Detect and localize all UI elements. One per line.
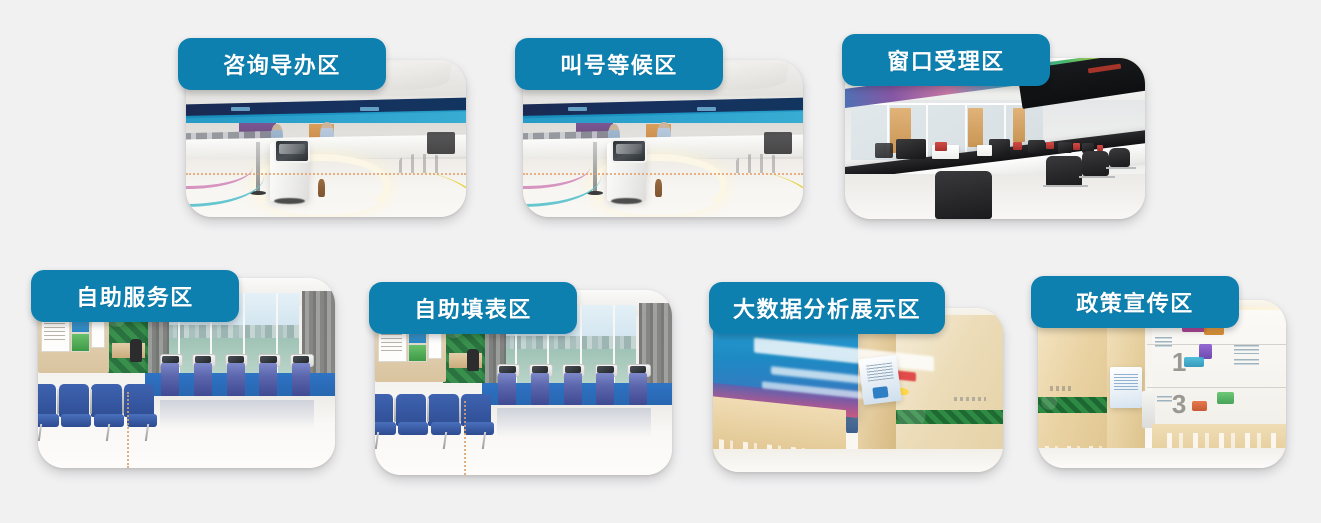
sign-led [231, 107, 251, 111]
visitor-chair [1046, 156, 1082, 187]
form-filling-kiosk [529, 364, 550, 405]
floor-reflection [497, 408, 651, 438]
desk-chair [130, 339, 142, 362]
zone-label-badge-6[interactable]: 大数据分析展示区 [709, 282, 945, 334]
zone-label-badge-1[interactable]: 咨询导办区 [178, 38, 386, 90]
seat-leg [145, 424, 149, 441]
policy-illustration [1184, 357, 1204, 367]
sign-led [568, 107, 588, 111]
kiosk-body [227, 363, 245, 396]
kiosk-body [292, 363, 310, 396]
seat-leg [443, 432, 447, 449]
kiosk-screen [162, 356, 178, 363]
window-mullion [965, 103, 967, 158]
left-wood-wall [1038, 310, 1107, 458]
waiting-seat [375, 394, 393, 426]
seat-armrest [90, 389, 92, 414]
seat-cushion [127, 414, 157, 427]
seat-leg [106, 424, 110, 441]
kiosk-screen [630, 366, 646, 373]
desk-documents [977, 145, 992, 156]
waiting-seat [396, 394, 426, 426]
guidance-kiosk-screen [274, 139, 310, 163]
floor [845, 174, 1145, 219]
kiosk-screen [499, 366, 515, 373]
wall-text-block [1234, 359, 1259, 366]
zones-board: 咨询导办区 [0, 0, 1321, 523]
form-filling-kiosk [562, 364, 583, 405]
green-plant-band [1038, 397, 1107, 412]
notice-poster [408, 344, 428, 363]
red-folder [935, 142, 947, 152]
chair-leg [1043, 185, 1088, 187]
kiosk-screen [195, 356, 211, 363]
wall-text-block [1155, 337, 1172, 349]
policy-step-number: 3 [1172, 389, 1186, 420]
zone-card-5[interactable]: 自助填表区 [375, 290, 672, 475]
kiosk-screen [260, 356, 276, 363]
policy-illustration [1217, 392, 1234, 404]
wall-text-block [1157, 396, 1172, 404]
zone-card-1[interactable]: 咨询导办区 [186, 60, 466, 217]
seat-armrest [427, 398, 429, 422]
floor-dotted-line [523, 173, 803, 175]
zone-label-badge-4[interactable]: 自助服务区 [31, 270, 239, 322]
zone-label-badge-7[interactable]: 政策宣传区 [1031, 276, 1239, 328]
sign-led [360, 107, 380, 111]
wall-divider-line [1147, 387, 1286, 388]
seat-armrest [394, 398, 396, 422]
self-service-kiosk [225, 354, 246, 396]
office-chair [935, 171, 992, 219]
waiting-seat-row [375, 394, 494, 450]
guide-dog [655, 179, 662, 196]
counter-monitor [989, 139, 1010, 155]
waiting-seat [38, 384, 56, 417]
zone-label-badge-2[interactable]: 叫号等候区 [515, 38, 723, 90]
waiting-seat [59, 384, 89, 417]
counter-monitor [1058, 142, 1072, 153]
form-filling-kiosk [497, 364, 518, 405]
counter-monitor [1028, 140, 1045, 153]
visitor-chair [1109, 148, 1130, 167]
floor-reflection [160, 400, 314, 430]
form-filling-kiosk [627, 364, 648, 405]
zone-label-badge-3[interactable]: 窗口受理区 [842, 34, 1050, 86]
visitor-chair [1082, 151, 1109, 175]
self-service-kiosk [160, 354, 181, 396]
wall-text-block [1234, 345, 1259, 353]
wood-door [968, 108, 983, 147]
seat-leg [375, 432, 379, 449]
kiosk-body [629, 373, 647, 405]
seat-leg [482, 432, 486, 449]
red-folder [1097, 145, 1103, 151]
red-folder [1013, 142, 1022, 150]
seat-armrest [459, 398, 461, 422]
seat-armrest [57, 389, 59, 414]
floor [713, 449, 1003, 472]
seat-cushion [61, 414, 91, 427]
zone-card-3[interactable]: 窗口受理区 [845, 58, 1145, 219]
zone-card-6[interactable]: 大数据分析展示区 [713, 308, 1003, 472]
kiosk-body [498, 373, 516, 405]
kiosk-body [531, 373, 549, 405]
kiosk-screen [532, 366, 548, 373]
desk-chair [467, 349, 479, 371]
floor [1038, 448, 1286, 468]
kiosk-body [259, 363, 277, 396]
notice-poster [71, 333, 91, 352]
brochure-stand [1142, 391, 1154, 428]
self-service-kiosk [290, 354, 311, 396]
guide-dog [318, 179, 325, 196]
zone-card-2[interactable]: 叫号等候区 [523, 60, 803, 217]
queue-kiosk-screen [611, 139, 647, 163]
kiosk-screen [293, 356, 309, 363]
seat-cushion [464, 422, 494, 434]
left-wall-signage [1050, 386, 1072, 391]
green-plant-band [887, 410, 1003, 425]
sign-led [697, 107, 717, 111]
self-service-kiosk [192, 354, 213, 396]
policy-panel-text [1114, 374, 1139, 392]
kiosk-body [161, 363, 179, 396]
counter-monitor [896, 139, 926, 160]
counter-monitor [875, 143, 893, 157]
display-cabinet [427, 132, 455, 154]
seat-leg [38, 424, 42, 441]
waiting-seat [428, 394, 458, 426]
chair-leg [1079, 176, 1115, 178]
window-mullion [926, 103, 928, 158]
chair-leg [1106, 167, 1136, 169]
policy-illustration [1192, 401, 1207, 411]
red-folder [1046, 142, 1054, 149]
kiosk-body [596, 373, 614, 405]
display-cabinet [764, 132, 792, 154]
wall-signage-text [954, 397, 986, 402]
hanging-board-icon [872, 386, 888, 399]
waiting-seat [91, 384, 121, 417]
zone-label-badge-5[interactable]: 自助填表区 [369, 282, 577, 334]
kiosk-body [194, 363, 212, 396]
kiosk-screen [597, 366, 613, 373]
zone-card-4[interactable]: 自助服务区 [38, 278, 335, 468]
hanging-board-text [866, 362, 894, 381]
waiting-seat-row [38, 384, 157, 441]
kiosk-screen [565, 366, 581, 373]
self-service-kiosk [258, 354, 279, 396]
zone-card-7[interactable]: 1 3 [1038, 300, 1286, 468]
kiosk-screen [228, 356, 244, 363]
seat-armrest [122, 389, 124, 414]
kiosk-body [564, 373, 582, 405]
form-filling-kiosk [595, 364, 616, 405]
seat-cushion [398, 422, 428, 434]
wood-door [1013, 108, 1025, 142]
red-folder [1073, 143, 1080, 149]
floor-dotted-line [464, 401, 466, 475]
floor-dotted-line [127, 392, 129, 468]
floor-dotted-line [186, 173, 466, 175]
